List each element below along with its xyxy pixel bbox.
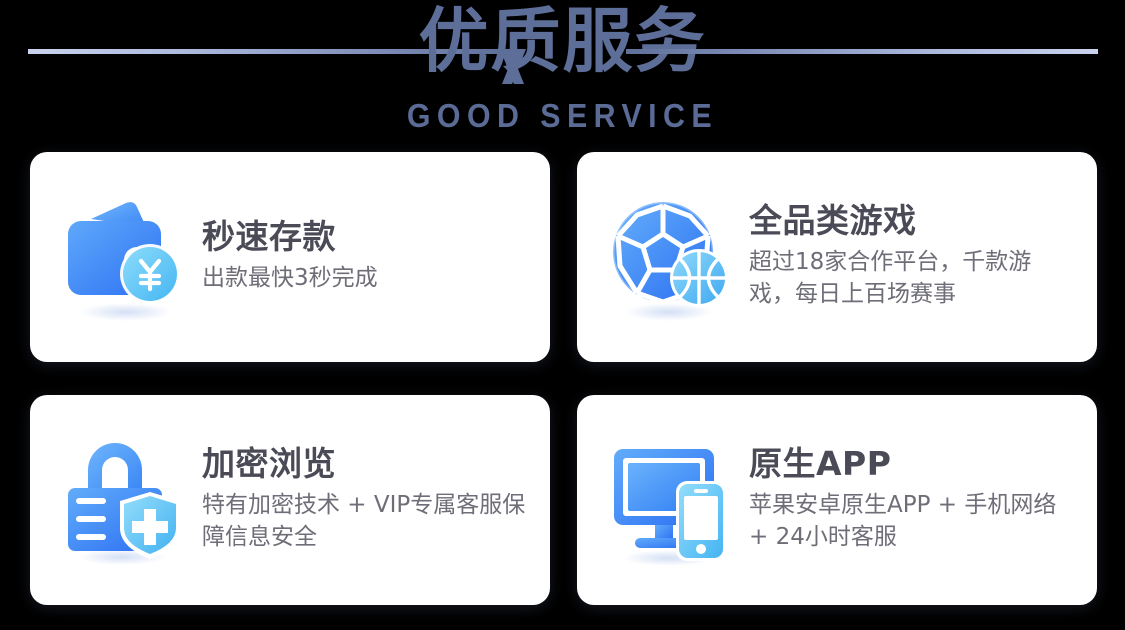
feature-card-title: 秒速存款	[202, 219, 528, 256]
feature-card-desc: 超过18家合作平台，千款游戏，每日上百场赛事	[749, 246, 1075, 311]
feature-card-title: 原生APP	[749, 446, 1075, 483]
wallet-yen-icon	[60, 190, 192, 325]
feature-card-desc: 苹果安卓原生APP + 手机网络 + 24小时客服	[749, 489, 1075, 554]
header-rule-right	[626, 49, 1098, 54]
page-header: 优质服务 GOOD SERVICE	[0, 0, 1125, 145]
lock-shield-icon	[60, 433, 192, 568]
feature-card-desc: 出款最快3秒完成	[202, 262, 528, 295]
feature-card-title: 全品类游戏	[749, 203, 1075, 240]
feature-card-encryption[interactable]: 加密浏览 特有加密技术 + VIP专属客服保障信息安全	[30, 395, 550, 605]
feature-card-text: 秒速存款 出款最快3秒完成	[202, 219, 528, 295]
feature-card-games[interactable]: 全品类游戏 超过18家合作平台，千款游戏，每日上百场赛事	[577, 152, 1097, 362]
feature-card-title: 加密浏览	[202, 446, 528, 483]
page-title: 优质服务	[0, 6, 1125, 76]
feature-card-text: 全品类游戏 超过18家合作平台，千款游戏，每日上百场赛事	[749, 203, 1075, 311]
monitor-phone-icon	[607, 433, 739, 568]
feature-card-native-app[interactable]: 原生APP 苹果安卓原生APP + 手机网络 + 24小时客服	[577, 395, 1097, 605]
feature-card-grid: 秒速存款 出款最快3秒完成	[0, 152, 1125, 607]
feature-card-deposit[interactable]: 秒速存款 出款最快3秒完成	[30, 152, 550, 362]
feature-card-text: 原生APP 苹果安卓原生APP + 手机网络 + 24小时客服	[749, 446, 1075, 554]
page-subtitle: GOOD SERVICE	[45, 99, 1080, 132]
soccer-basketball-icon	[607, 190, 739, 325]
feature-card-desc: 特有加密技术 + VIP专属客服保障信息安全	[202, 489, 528, 554]
feature-card-text: 加密浏览 特有加密技术 + VIP专属客服保障信息安全	[202, 446, 528, 554]
